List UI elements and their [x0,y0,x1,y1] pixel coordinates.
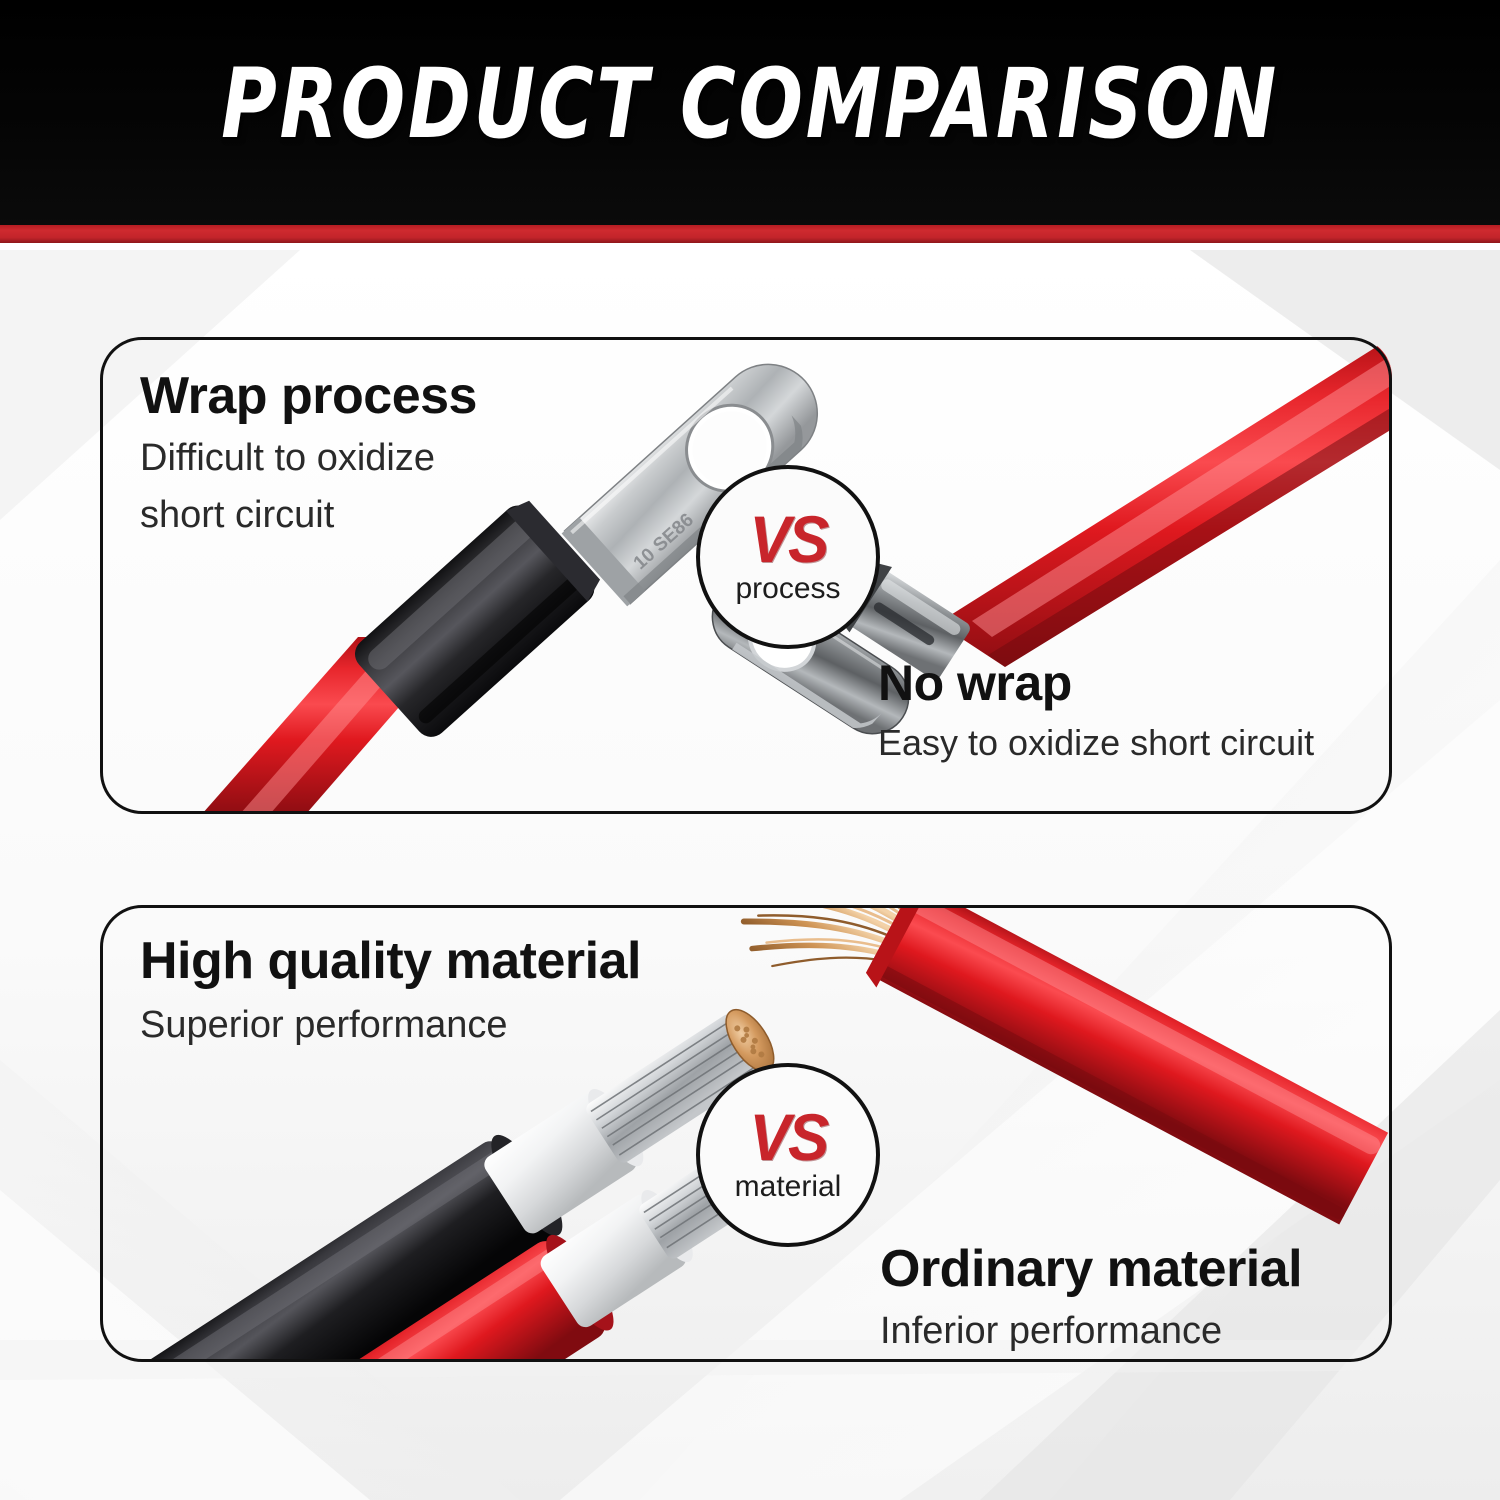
panel1-good-subtitle-line2: short circuit [140,494,477,537]
panel1-bad-subtitle-line1: Easy to oxidize short circuit [878,723,1314,763]
vs-mark: VS [749,509,826,569]
panel1-good-title: Wrap process [140,370,477,423]
panel2-bad-text: Ordinary material Inferior performance [880,1243,1302,1353]
panel2-good-text: High quality material Superior performan… [140,935,641,1047]
panel2-good-title: High quality material [140,935,641,988]
vs-badge-process: VS process [696,465,880,649]
panel2-good-subtitle-line1: Superior performance [140,1004,641,1047]
header-banner: PRODUCT COMPARISON [0,0,1500,243]
vs-badge-material: VS material [696,1063,880,1247]
panel1-bad-text: No wrap Easy to oxidize short circuit [878,658,1314,763]
panel2-bad-subtitle-line1: Inferior performance [880,1310,1302,1353]
vs-mark: VS [749,1107,826,1167]
header-red-accent-stripe [0,225,1500,243]
panel1-good-subtitle-line1: Difficult to oxidize [140,437,477,480]
panel2-bad-title: Ordinary material [880,1243,1302,1296]
panel1-good-text: Wrap process Difficult to oxidize short … [140,370,477,536]
vs-label: material [735,1171,842,1203]
vs-label: process [735,573,840,605]
panel1-bad-title: No wrap [878,658,1314,709]
page-title: PRODUCT COMPARISON [90,58,1410,150]
